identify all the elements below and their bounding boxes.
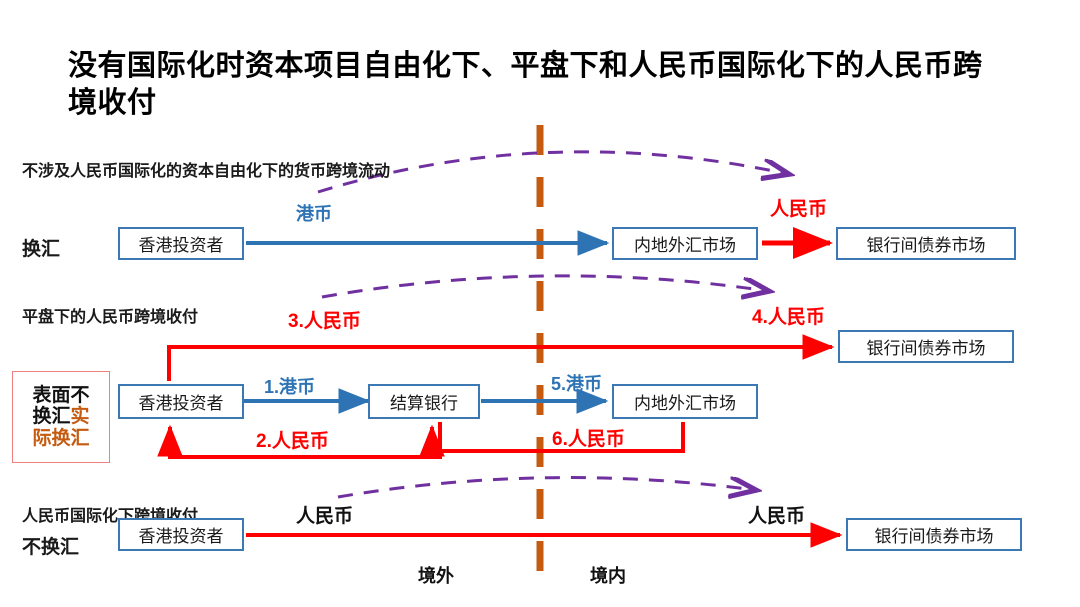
callout-surface-vs-actual-exchange: 表面不换汇实际换汇 bbox=[12, 371, 110, 463]
box-hk-investor-3[interactable]: 香港投资者 bbox=[118, 518, 244, 551]
section-1-description: 不涉及人民币国际化的资本自由化下的货币跨境流动 bbox=[22, 160, 390, 185]
flow-label-step3: 3.人民币 bbox=[288, 306, 361, 333]
section-1-side-label: 换汇 bbox=[22, 234, 60, 261]
flow-label-step2: 2.人民币 bbox=[256, 426, 329, 453]
flow-label-step4: 4.人民币 bbox=[752, 302, 825, 329]
region-label-offshore: 境外 bbox=[418, 562, 454, 588]
flow-label-step6: 6.人民币 bbox=[552, 424, 625, 451]
flow-label-cny-1: 人民币 bbox=[770, 194, 827, 221]
box-mainland-fx-market-2[interactable]: 内地外汇市场 bbox=[612, 384, 758, 419]
box-interbank-bond-market-3[interactable]: 银行间债券市场 bbox=[846, 518, 1022, 551]
region-label-onshore: 境内 bbox=[590, 562, 626, 588]
section-3-side-label: 不换汇 bbox=[22, 532, 79, 559]
flow-label-cny-right-3: 人民币 bbox=[748, 501, 805, 528]
flow-label-step1: 1.港币 bbox=[264, 373, 315, 399]
box-mainland-fx-market-1[interactable]: 内地外汇市场 bbox=[612, 227, 758, 260]
box-settlement-bank[interactable]: 结算银行 bbox=[368, 384, 480, 419]
box-hk-investor-1[interactable]: 香港投资者 bbox=[118, 227, 244, 260]
diagram-canvas: 没有国际化时资本项目自由化下、平盘下和人民币国际化下的人民币跨境收付 bbox=[0, 0, 1080, 607]
box-hk-investor-2[interactable]: 香港投资者 bbox=[118, 384, 244, 419]
arc-offshore-to-onshore-3 bbox=[338, 478, 755, 497]
arc-offshore-to-onshore-2 bbox=[322, 276, 768, 297]
page-title: 没有国际化时资本项目自由化下、平盘下和人民币国际化下的人民币跨境收付 bbox=[68, 48, 1008, 122]
box-interbank-bond-market-2[interactable]: 银行间债券市场 bbox=[838, 330, 1014, 363]
flow-label-cny-left-3: 人民币 bbox=[296, 501, 353, 528]
flow-label-step5: 5.港币 bbox=[551, 370, 602, 396]
section-2-description: 平盘下的人民币跨境收付 bbox=[22, 306, 198, 331]
flow-label-hkd-1: 港币 bbox=[296, 200, 332, 226]
box-interbank-bond-market-1[interactable]: 银行间债券市场 bbox=[836, 227, 1016, 260]
